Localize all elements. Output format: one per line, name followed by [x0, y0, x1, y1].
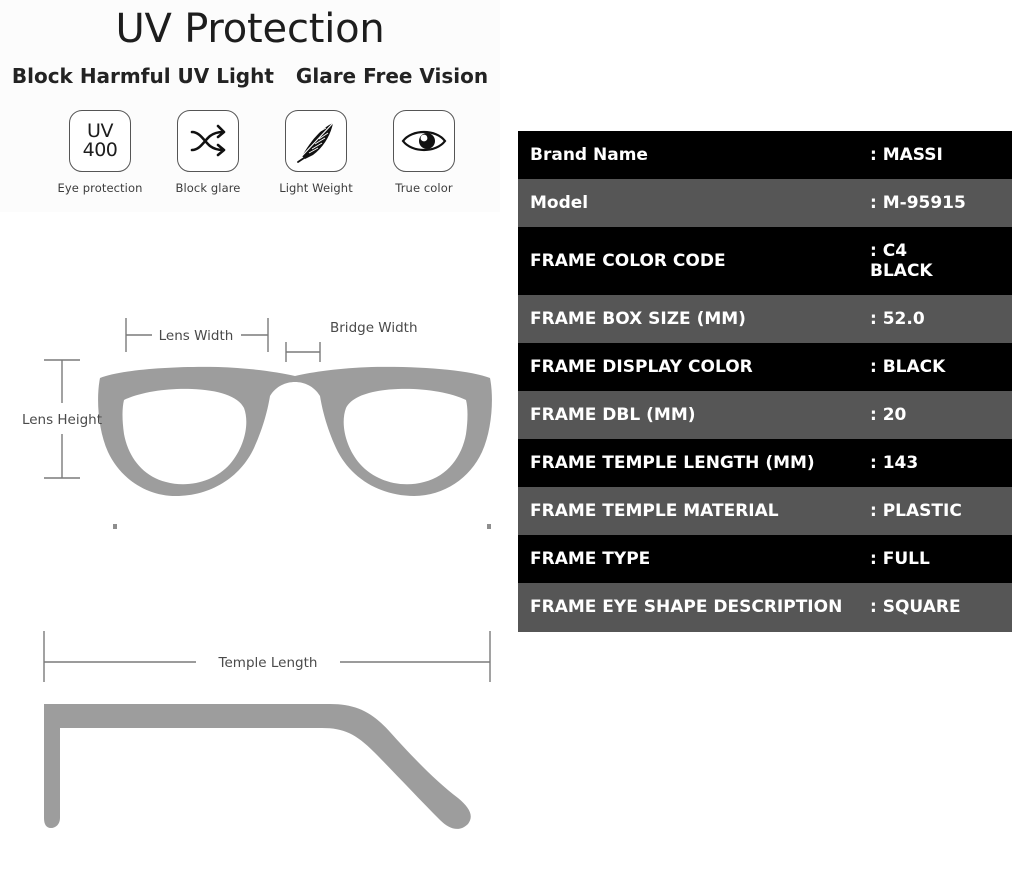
uv-subtitle-glare-free: Glare Free Vision	[296, 64, 488, 88]
feature-caption-true-color: True color	[395, 181, 452, 195]
spec-label: FRAME TEMPLE MATERIAL	[518, 487, 870, 535]
spec-table-body: Brand Name : MASSI Model : M-95915 FRAME…	[518, 131, 1012, 632]
spec-label: FRAME DISPLAY COLOR	[518, 343, 870, 391]
feature-eye-protection: UV 400 Eye protection	[52, 110, 148, 195]
uv400-icon: UV 400	[69, 110, 131, 172]
table-row: Brand Name : MASSI	[518, 131, 1012, 179]
product-specification-table: Brand Name : MASSI Model : M-95915 FRAME…	[518, 131, 1012, 632]
table-row: FRAME COLOR CODE : C4 BLACK	[518, 227, 1012, 295]
spec-value: : SQUARE	[870, 583, 1012, 631]
shuffle-arrows-icon	[177, 110, 239, 172]
table-row: FRAME TEMPLE LENGTH (MM) : 143	[518, 439, 1012, 487]
spec-value: : BLACK	[870, 343, 1012, 391]
temple-length-label: Temple Length	[218, 655, 318, 671]
eye-icon	[393, 110, 455, 172]
spec-value: : C4 BLACK	[870, 227, 1012, 295]
lens-width-dimension: Lens Width	[126, 318, 268, 352]
spec-value: : M-95915	[870, 179, 1012, 227]
spec-label: FRAME DBL (MM)	[518, 391, 870, 439]
table-row: FRAME TEMPLE MATERIAL : PLASTIC	[518, 487, 1012, 535]
glasses-front-diagram: Lens Width Bridge Width Lens Height	[0, 300, 512, 570]
spec-value: : 143	[870, 439, 1012, 487]
hinge-dot-left	[113, 524, 117, 529]
uv-protection-banner: UV Protection Block Harmful UV Light Gla…	[0, 0, 500, 212]
spec-label: Model	[518, 179, 870, 227]
table-row: FRAME BOX SIZE (MM) : 52.0	[518, 295, 1012, 343]
spec-label: FRAME EYE SHAPE DESCRIPTION	[518, 583, 870, 631]
spec-label: Brand Name	[518, 131, 870, 179]
feature-light-weight: Light Weight	[268, 110, 364, 195]
spec-value: : MASSI	[870, 131, 1012, 179]
glasses-temple-diagram: Temple Length	[0, 620, 512, 860]
uv-feature-list: UV 400 Eye protection	[52, 110, 472, 195]
lens-height-label: Lens Height	[22, 412, 102, 428]
table-row: FRAME DBL (MM) : 20	[518, 391, 1012, 439]
table-row: FRAME TYPE : FULL	[518, 535, 1012, 583]
glasses-frame-shape	[98, 367, 492, 496]
lens-height-dimension: Lens Height	[22, 360, 102, 478]
table-row: Model : M-95915	[518, 179, 1012, 227]
spec-label: FRAME TEMPLE LENGTH (MM)	[518, 439, 870, 487]
spec-label: FRAME COLOR CODE	[518, 227, 870, 295]
feature-caption-light-weight: Light Weight	[279, 181, 353, 195]
spec-value: : 20	[870, 391, 1012, 439]
spec-value: : FULL	[870, 535, 1012, 583]
hinge-dot-right	[487, 524, 491, 529]
table-row: FRAME DISPLAY COLOR : BLACK	[518, 343, 1012, 391]
bridge-width-label: Bridge Width	[330, 320, 418, 336]
spec-label: FRAME TYPE	[518, 535, 870, 583]
table-row: FRAME EYE SHAPE DESCRIPTION : SQUARE	[518, 583, 1012, 631]
lens-width-label: Lens Width	[159, 328, 234, 344]
uv-subtitle-block-uv: Block Harmful UV Light	[12, 64, 274, 88]
feature-caption-block-glare: Block glare	[176, 181, 241, 195]
uv-banner-title: UV Protection	[0, 6, 500, 52]
uv400-icon-line2: 400	[83, 141, 118, 160]
bridge-width-dimension: Bridge Width	[286, 320, 418, 362]
spec-value: : 52.0	[870, 295, 1012, 343]
feature-true-color: True color	[376, 110, 472, 195]
feature-block-glare: Block glare	[160, 110, 256, 195]
spec-value: : PLASTIC	[870, 487, 1012, 535]
product-illustration-column: UV Protection Block Harmful UV Light Gla…	[0, 0, 512, 886]
spec-label: FRAME BOX SIZE (MM)	[518, 295, 870, 343]
feature-caption-eye-protection: Eye protection	[58, 181, 143, 195]
temple-length-dimension: Temple Length	[44, 631, 490, 682]
uv-banner-subtitles: Block Harmful UV Light Glare Free Vision	[0, 64, 500, 88]
feather-icon	[285, 110, 347, 172]
temple-arm-shape	[44, 704, 471, 829]
